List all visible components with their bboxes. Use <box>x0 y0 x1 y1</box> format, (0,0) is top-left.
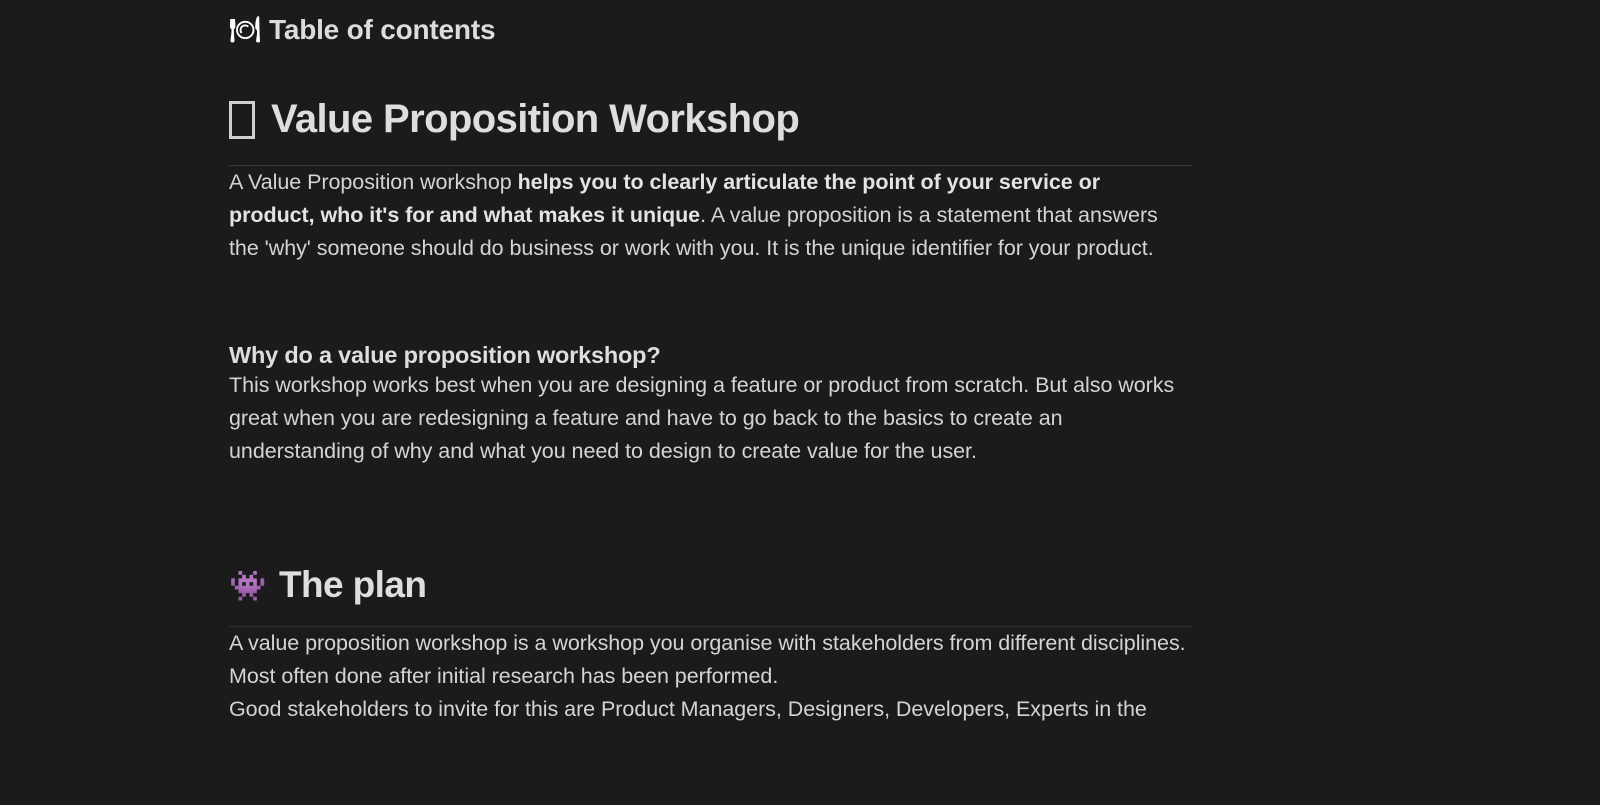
page-title-text: Value Proposition Workshop <box>271 96 799 142</box>
table-of-contents-label: Table of contents <box>269 14 495 46</box>
plan-paragraph-2: Good stakeholders to invite for this are… <box>229 693 1219 726</box>
missing-glyph-box-icon <box>229 101 255 139</box>
fork-and-knife-with-plate-icon: 🍽 <box>229 18 259 43</box>
document-content: 🍽 Table of contents Value Proposition Wo… <box>229 0 1219 726</box>
intro-paragraph: A Value Proposition workshop helps you t… <box>229 166 1189 265</box>
document-page: 🍽 Table of contents Value Proposition Wo… <box>0 0 1600 805</box>
why-section: Why do a value proposition workshop? Thi… <box>229 341 1219 468</box>
plan-heading: 👾 The plan <box>229 564 1219 607</box>
page-title: Value Proposition Workshop <box>229 96 1219 142</box>
why-section-heading: Why do a value proposition workshop? <box>229 341 1219 369</box>
table-of-contents-header[interactable]: 🍽 Table of contents <box>229 0 1219 52</box>
intro-lead: A Value Proposition workshop <box>229 170 518 194</box>
plan-paragraph-1: A value proposition workshop is a worksh… <box>229 627 1189 693</box>
why-section-paragraph: This workshop works best when you are de… <box>229 369 1189 468</box>
plan-heading-text: The plan <box>279 564 426 607</box>
alien-monster-icon: 👾 <box>229 572 265 602</box>
